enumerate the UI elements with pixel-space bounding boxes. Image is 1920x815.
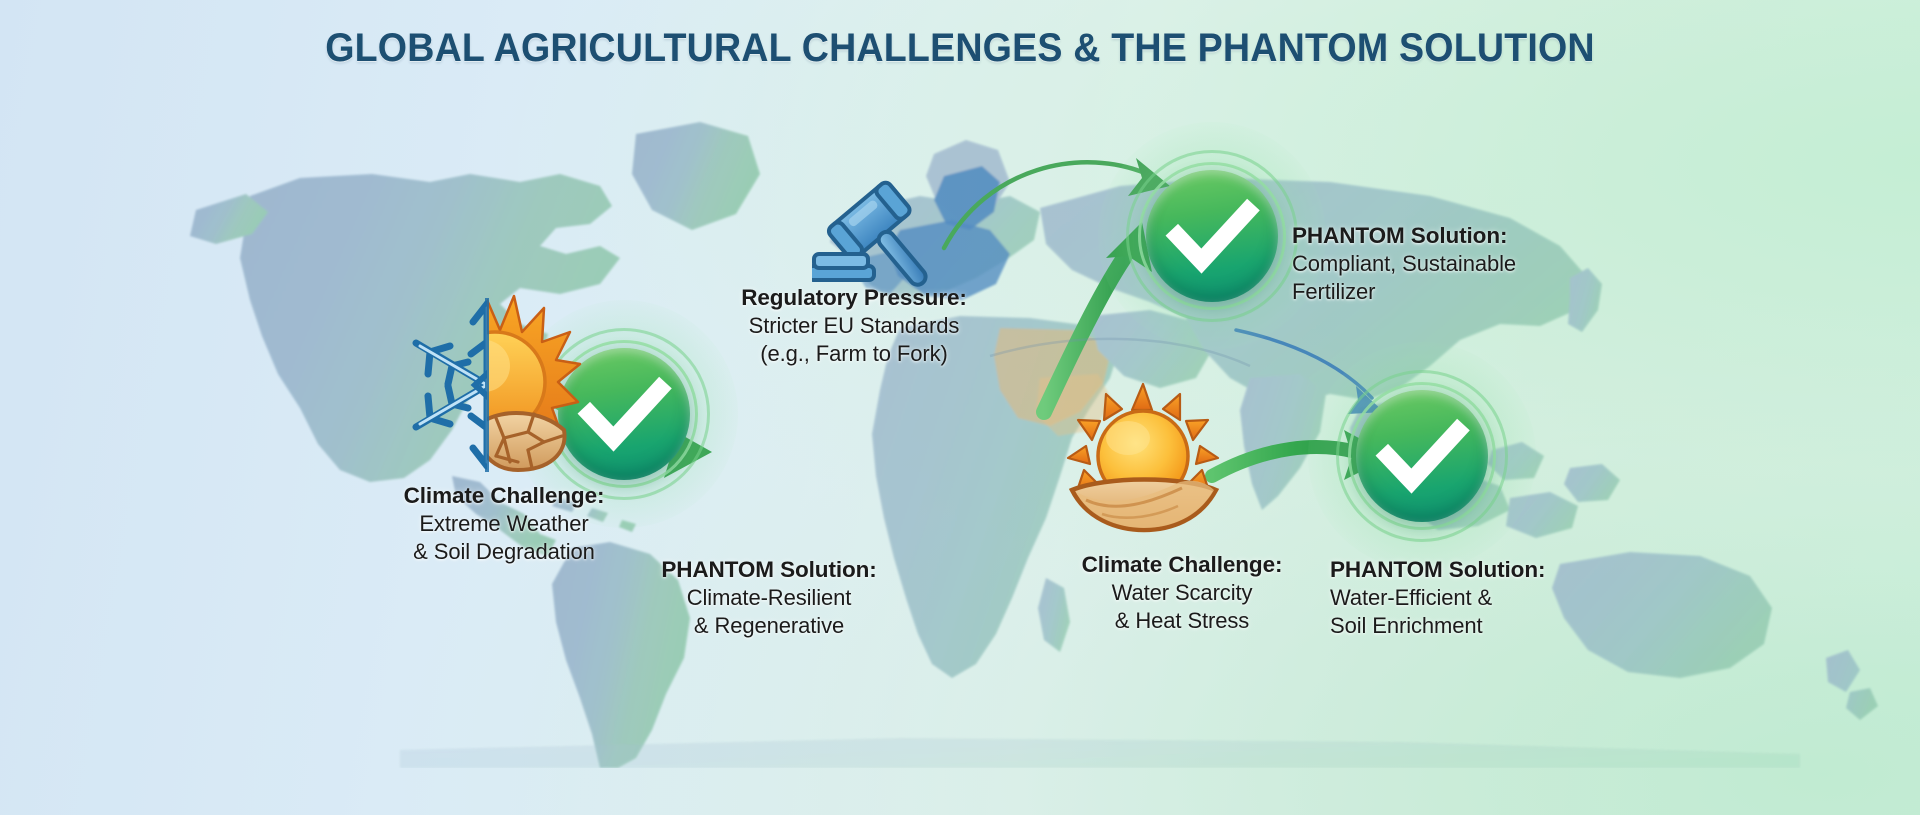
block-line-1: Stricter EU Standards: [738, 312, 970, 340]
infographic-canvas: GLOBAL AGRICULTURAL CHALLENGES & THE PHA…: [0, 0, 1920, 815]
checkmark-icon: [1356, 390, 1488, 522]
block-line-2: & Regenerative: [648, 612, 890, 640]
block-line-1: Extreme Weather: [386, 510, 622, 538]
phantom-solution-compliant: PHANTOM Solution: Compliant, Sustainable…: [1292, 222, 1564, 306]
block-heading: Climate Challenge:: [1074, 551, 1290, 579]
badge-disc: [1356, 390, 1488, 522]
check-badge-water-efficient[interactable]: [1334, 368, 1510, 544]
block-line-2: Fertilizer: [1292, 278, 1564, 306]
phantom-solution-climate-resilient: PHANTOM Solution: Climate-Resilient & Re…: [648, 556, 890, 640]
block-line-1: Climate-Resilient: [648, 584, 890, 612]
regulatory-pressure: Regulatory Pressure: Stricter EU Standar…: [738, 284, 970, 368]
block-line-2: (e.g., Farm to Fork): [738, 340, 970, 368]
block-line-1: Water Scarcity: [1074, 579, 1290, 607]
climate-challenge-weather: Climate Challenge: Extreme Weather & Soi…: [386, 482, 622, 566]
sun-over-dunes-icon: [1060, 378, 1226, 538]
check-badge-compliant[interactable]: [1124, 148, 1300, 324]
block-line-2: Soil Enrichment: [1330, 612, 1578, 640]
block-heading: PHANTOM Solution:: [1330, 556, 1578, 584]
block-line-2: & Heat Stress: [1074, 607, 1290, 635]
phantom-solution-water-efficient: PHANTOM Solution: Water-Efficient & Soil…: [1330, 556, 1578, 640]
block-line-2: & Soil Degradation: [386, 538, 622, 566]
block-line-1: Water-Efficient &: [1330, 584, 1578, 612]
block-heading: Regulatory Pressure:: [738, 284, 970, 312]
snowflake-sun-cracked-earth-icon: [392, 290, 582, 480]
climate-challenge-water: Climate Challenge: Water Scarcity & Heat…: [1074, 551, 1290, 635]
block-line-1: Compliant, Sustainable: [1292, 250, 1564, 278]
page-title: GLOBAL AGRICULTURAL CHALLENGES & THE PHA…: [58, 26, 1863, 71]
world-map: [0, 78, 1920, 768]
gavel-icon: [812, 176, 940, 298]
checkmark-icon: [1146, 170, 1278, 302]
badge-disc: [1146, 170, 1278, 302]
block-heading: Climate Challenge:: [386, 482, 622, 510]
block-heading: PHANTOM Solution:: [1292, 222, 1564, 250]
block-heading: PHANTOM Solution:: [648, 556, 890, 584]
